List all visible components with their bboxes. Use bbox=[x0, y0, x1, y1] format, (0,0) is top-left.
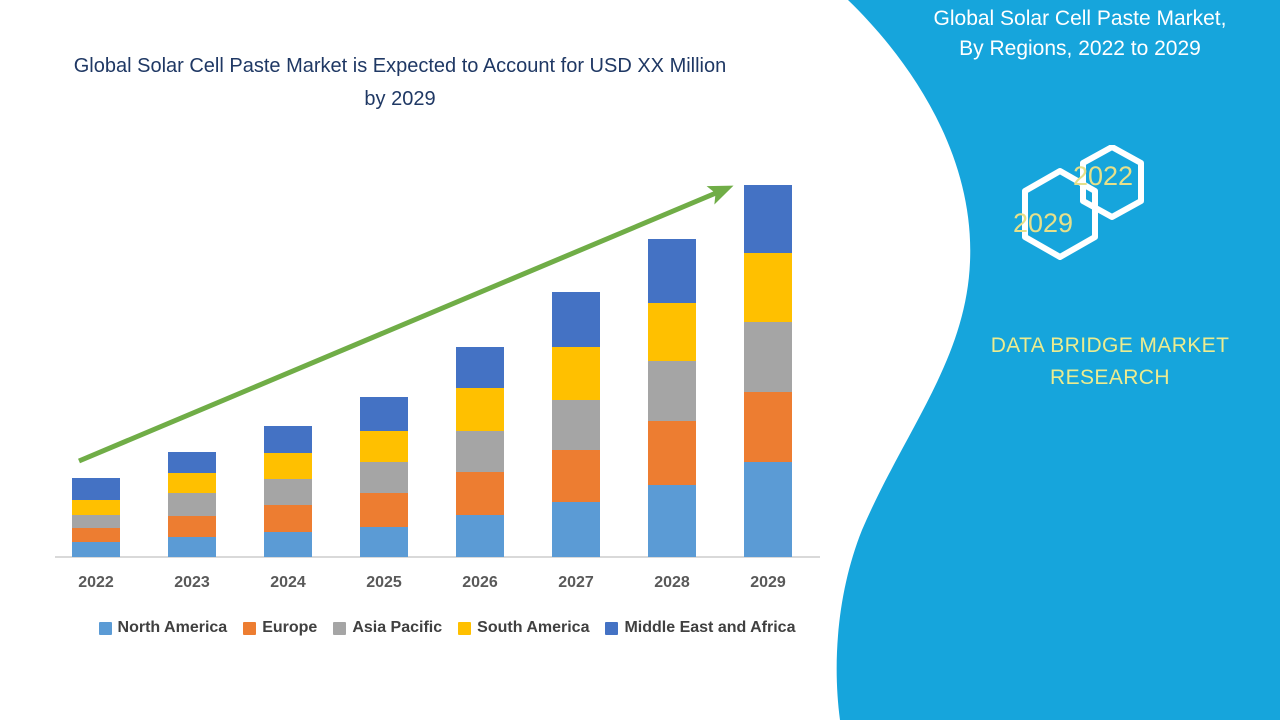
bar-segment-2029-middle-east-and-africa bbox=[744, 185, 792, 253]
bar-segment-2029-north-america bbox=[744, 462, 792, 557]
slide-canvas: Global Solar Cell Paste Market, By Regio… bbox=[0, 0, 1280, 720]
bar-segment-2027-europe bbox=[552, 450, 600, 502]
brand-line1: DATA BRIDGE MARKET bbox=[960, 330, 1260, 362]
bar-segment-2028-north-america bbox=[648, 485, 696, 557]
legend-item-south-america[interactable]: South America bbox=[458, 619, 589, 637]
bar-segment-2027-south-america bbox=[552, 347, 600, 400]
legend-swatch-icon bbox=[243, 622, 256, 635]
bar-segment-2026-south-america bbox=[456, 388, 504, 431]
x-axis-label-2022: 2022 bbox=[61, 574, 131, 592]
growth-arrow bbox=[0, 0, 840, 600]
bar-2028 bbox=[648, 239, 696, 557]
legend-swatch-icon bbox=[333, 622, 346, 635]
legend-swatch-icon bbox=[605, 622, 618, 635]
bar-segment-2025-north-america bbox=[360, 527, 408, 557]
x-axis-labels: 20222023202420252026202720282029 bbox=[0, 574, 840, 600]
bar-segment-2025-asia-pacific bbox=[360, 462, 408, 493]
brand-name: DATA BRIDGE MARKET RESEARCH bbox=[960, 330, 1260, 394]
bar-segment-2026-europe bbox=[456, 472, 504, 515]
bar-segment-2022-asia-pacific bbox=[72, 515, 120, 528]
bar-segment-2023-north-america bbox=[168, 537, 216, 557]
chart-plot-area: 20222023202420252026202720282029 bbox=[0, 0, 840, 600]
brand-line2: RESEARCH bbox=[960, 362, 1260, 394]
panel-title-line1: Global Solar Cell Paste Market, bbox=[905, 4, 1255, 34]
bar-segment-2025-europe bbox=[360, 493, 408, 527]
bar-2023 bbox=[168, 452, 216, 557]
x-axis-label-2026: 2026 bbox=[445, 574, 515, 592]
bar-segment-2029-asia-pacific bbox=[744, 322, 792, 392]
bar-segment-2024-north-america bbox=[264, 532, 312, 557]
legend-label: North America bbox=[118, 619, 228, 637]
bar-segment-2022-south-america bbox=[72, 500, 120, 515]
x-axis-label-2028: 2028 bbox=[637, 574, 707, 592]
bar-segment-2027-middle-east-and-africa bbox=[552, 292, 600, 347]
bar-segment-2022-middle-east-and-africa bbox=[72, 478, 120, 500]
bar-2024 bbox=[264, 426, 312, 557]
legend-item-asia-pacific[interactable]: Asia Pacific bbox=[333, 619, 442, 637]
bar-2022 bbox=[72, 478, 120, 557]
hexagon-2022-label: 2022 bbox=[1073, 161, 1133, 192]
bar-2026 bbox=[456, 347, 504, 557]
legend-label: Middle East and Africa bbox=[624, 619, 795, 637]
bar-segment-2023-europe bbox=[168, 516, 216, 537]
bar-segment-2022-europe bbox=[72, 528, 120, 542]
bar-segment-2026-north-america bbox=[456, 515, 504, 557]
bar-segment-2029-south-america bbox=[744, 253, 792, 322]
x-axis-label-2023: 2023 bbox=[157, 574, 227, 592]
bar-segment-2024-middle-east-and-africa bbox=[264, 426, 312, 453]
bar-segment-2023-asia-pacific bbox=[168, 493, 216, 516]
legend-swatch-icon bbox=[458, 622, 471, 635]
bar-2027 bbox=[552, 292, 600, 557]
legend-item-europe[interactable]: Europe bbox=[243, 619, 317, 637]
bar-segment-2029-europe bbox=[744, 392, 792, 462]
bar-segment-2028-middle-east-and-africa bbox=[648, 239, 696, 303]
x-axis-label-2024: 2024 bbox=[253, 574, 323, 592]
hexagon-2029-label: 2029 bbox=[1013, 208, 1073, 239]
legend-label: Asia Pacific bbox=[352, 619, 442, 637]
bar-segment-2024-europe bbox=[264, 505, 312, 532]
bar-segment-2028-south-america bbox=[648, 303, 696, 361]
bar-segment-2028-asia-pacific bbox=[648, 361, 696, 421]
bar-2029 bbox=[744, 185, 792, 557]
bar-segment-2027-north-america bbox=[552, 502, 600, 557]
x-axis-label-2027: 2027 bbox=[541, 574, 611, 592]
bar-segment-2024-asia-pacific bbox=[264, 479, 312, 505]
x-axis-label-2025: 2025 bbox=[349, 574, 419, 592]
legend-label: Europe bbox=[262, 619, 317, 637]
bar-segment-2023-middle-east-and-africa bbox=[168, 452, 216, 473]
bar-segment-2026-asia-pacific bbox=[456, 431, 504, 472]
bar-segment-2024-south-america bbox=[264, 453, 312, 479]
bar-segment-2022-north-america bbox=[72, 542, 120, 557]
bar-segment-2025-middle-east-and-africa bbox=[360, 397, 408, 431]
bar-segment-2023-south-america bbox=[168, 473, 216, 493]
bar-segment-2025-south-america bbox=[360, 431, 408, 462]
chart-legend: North AmericaEuropeAsia PacificSouth Ame… bbox=[52, 616, 842, 640]
legend-swatch-icon bbox=[99, 622, 112, 635]
bar-2025 bbox=[360, 397, 408, 557]
bar-segment-2028-europe bbox=[648, 421, 696, 485]
legend-item-middle-east-and-africa[interactable]: Middle East and Africa bbox=[605, 619, 795, 637]
bar-segment-2027-asia-pacific bbox=[552, 400, 600, 450]
hexagon-badges: 2022 2029 bbox=[985, 145, 1185, 285]
panel-title-line2: By Regions, 2022 to 2029 bbox=[905, 34, 1255, 64]
legend-label: South America bbox=[477, 619, 589, 637]
x-axis-label-2029: 2029 bbox=[733, 574, 803, 592]
panel-title: Global Solar Cell Paste Market, By Regio… bbox=[905, 4, 1255, 64]
bar-segment-2026-middle-east-and-africa bbox=[456, 347, 504, 388]
legend-item-north-america[interactable]: North America bbox=[99, 619, 228, 637]
